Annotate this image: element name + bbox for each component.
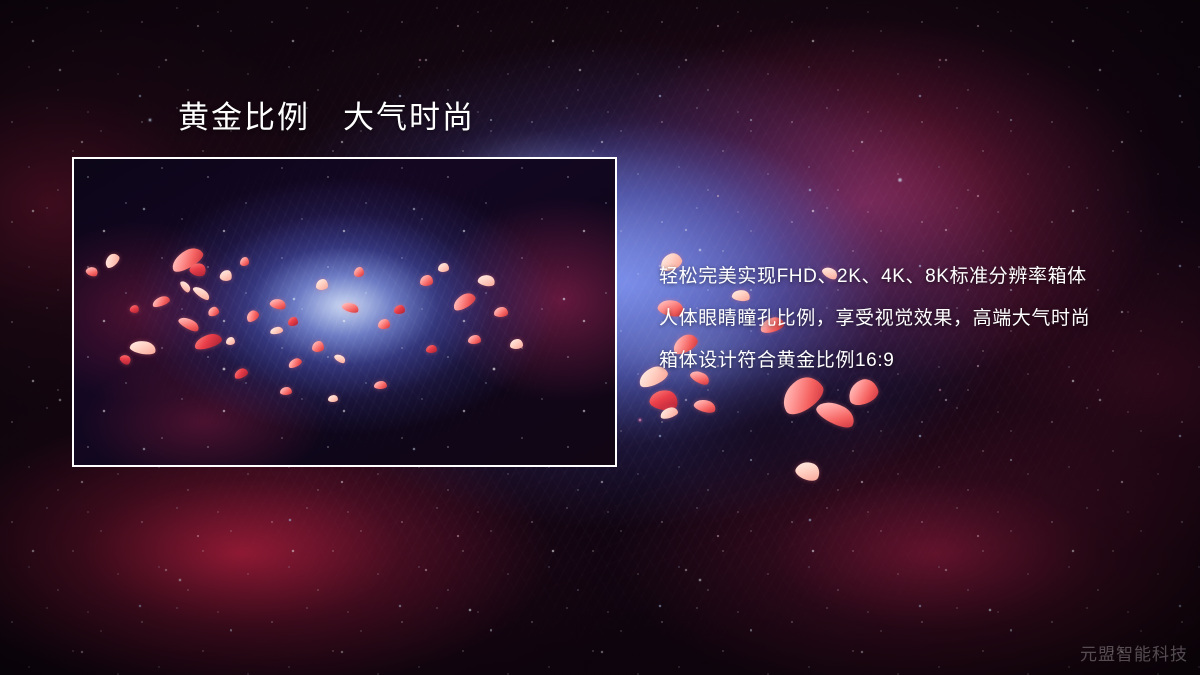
body-text-block: 轻松完美实现FHD、2K、4K、8K标准分辨率箱体 人体眼睛瞳孔比例，享受视觉效… [659, 256, 1179, 382]
slide-canvas: 黄金比例 大气时尚 轻松完美实现FHD、2K、4K、8K标准分辨率箱体 人体眼睛… [0, 0, 1200, 675]
body-line-2: 人体眼睛瞳孔比例，享受视觉效果，高端大气时尚 [659, 298, 1179, 340]
background-petal [693, 397, 718, 415]
background-petal [793, 458, 822, 484]
background-petal [814, 396, 859, 432]
body-line-1: 轻松完美实现FHD、2K、4K、8K标准分辨率箱体 [659, 256, 1179, 298]
body-line-3: 箱体设计符合黄金比例16:9 [659, 340, 1179, 382]
preview-bright-stars [74, 159, 615, 465]
background-petal [659, 406, 679, 420]
page-title: 黄金比例 大气时尚 [178, 100, 475, 136]
display-preview-panel [72, 157, 617, 467]
background-petal [648, 387, 680, 412]
watermark-text: 元盟智能科技 [1080, 640, 1188, 665]
